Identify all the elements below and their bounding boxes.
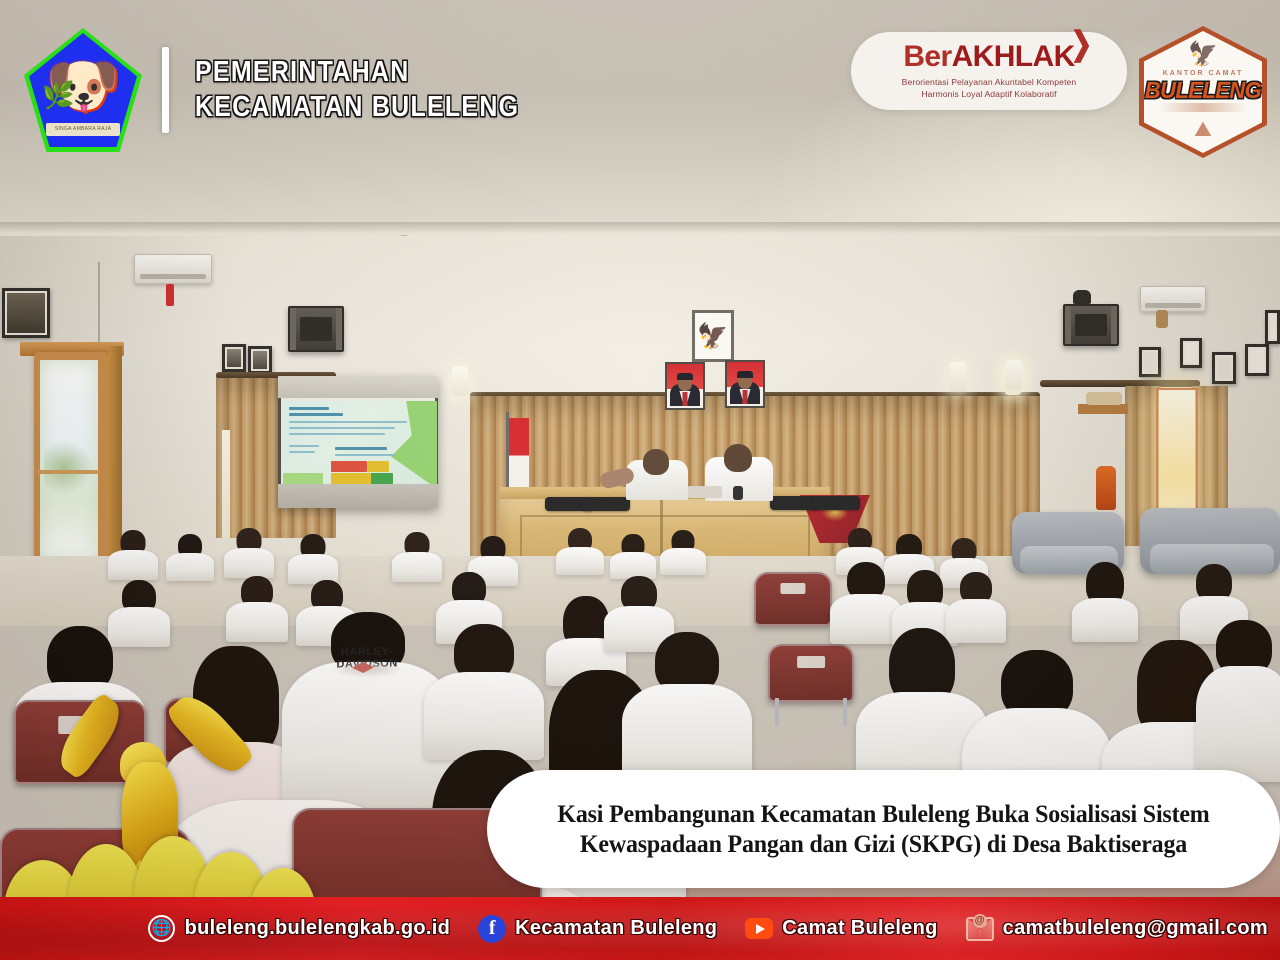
framed-certificate [1180,338,1202,368]
attendee [108,530,158,578]
crest-foliage-icon: 🌿 [42,80,74,111]
head-table-chair [770,496,818,510]
kantor-camat-buleleng-badge: 🦅 KANTOR CAMAT BULELENG ⛰ [1139,26,1267,158]
presentation-slide [283,401,437,489]
footer-youtube-label: Camat Buleleng [782,917,937,940]
header-title-line1: PEMERINTAHAN [195,55,519,90]
door-crossbar [38,470,100,474]
berakhlak-main: AKHLAK [952,40,1075,73]
head-table-chair [812,496,860,510]
header-title-line1-main: PEMERINTAH [195,56,371,88]
audience-chair [768,644,854,702]
footer-item-website[interactable]: 🌐 buleleng.bulelengkab.go.id [148,915,451,943]
garuda-wing-right [164,686,255,781]
header-divider [162,47,169,133]
screen-top-bar [278,376,438,398]
attendee [660,530,706,574]
footer-website-label: buleleng.bulelengkab.go.id [185,917,451,940]
framed-certificate [1139,347,1161,377]
wall-lamp [950,362,966,392]
footer-item-facebook[interactable]: f Kecamatan Buleleng [478,915,717,943]
attendee [1072,562,1138,638]
header-branding: 🐶 🌿 SINGA AMBARA RAJA PEMERINTAHAN KECAM… [24,28,572,152]
wall-speaker [1063,304,1119,346]
attendee [622,632,752,782]
framed-certificate [1245,344,1269,376]
attendee [166,534,214,580]
attendee [288,534,338,582]
wall-ornament [1156,310,1168,328]
speaker-head [724,444,752,472]
laptop [688,486,722,498]
framed-photo [222,344,246,372]
cctv-camera [1073,290,1091,304]
garuda-wing-left [51,691,129,780]
fire-extinguisher [1096,466,1116,510]
social-media-post-image: 🦅 [0,0,1280,960]
crest-motto: SINGA AMBARA RAJA [46,123,120,136]
eagle-icon: 🦅 [1188,43,1218,67]
header-title-line1-faded: AN [371,56,410,88]
email-icon: @ [966,915,994,943]
speaker-head [643,449,669,475]
badge-scroll [1159,103,1246,112]
berakhlak-subtitle: Berorientasi Pelayanan Akuntabel Kompete… [902,77,1077,100]
caption-container: Kasi Pembangunan Kecamatan Buleleng Buka… [487,770,1280,888]
president-portrait [665,362,705,410]
garuda-pancasila-icon: 🦅 [697,324,728,349]
audience-chair [754,572,832,626]
landscape-icon: ⛰ [1194,119,1212,140]
youtube-icon [745,915,773,943]
footer-email-label: camatbuleleng@gmail.com [1003,917,1268,940]
globe-icon: 🌐 [148,915,176,943]
ac-ribbon [166,284,174,306]
attendee [226,576,288,640]
outdoor-foliage [44,440,94,496]
berakhlak-logo: BerAKHLAK ❯ Berorientasi Pelayanan Akunt… [851,32,1127,110]
slide-red-block [331,461,367,472]
berakhlak-prefix: Ber [903,40,951,73]
wall-lamp [1006,360,1022,390]
vice-president-portrait [725,360,765,408]
attendee [392,532,442,580]
attendee [610,534,656,578]
chevron-right-icon: ❯ [1070,27,1091,60]
badge-top-text: KANTOR CAMAT [1163,70,1244,77]
air-conditioner [1140,286,1206,312]
air-conditioner [134,254,212,284]
framed-photo [248,346,272,374]
shelf-ornament [1086,392,1122,405]
wooden-shelf [1078,404,1128,414]
facebook-icon: f [478,915,506,943]
wall-lamp [452,366,468,396]
wall-speaker [288,306,344,352]
berakhlak-subtitle-line2: Harmonis Loyal Adaptif Kolaboratif [902,89,1077,101]
berakhlak-subtitle-line1: Berorientasi Pelayanan Akuntabel Kompete… [902,77,1077,89]
head-table-chair [582,497,630,511]
attendee [224,528,274,576]
indonesian-flag [509,418,529,496]
footer-item-youtube[interactable]: Camat Buleleng [745,915,937,943]
attendee [556,528,604,574]
framed-certificate [1265,310,1280,344]
footer-item-email[interactable]: @ camatbuleleng@gmail.com [966,915,1268,943]
framed-photo [2,288,50,338]
footer-contact-bar: 🌐 buleleng.bulelengkab.go.id f Kecamatan… [0,897,1280,960]
attendee [1196,620,1280,780]
header-title-block: PEMERINTAHAN KECAMATAN BULELENG [195,55,572,126]
buleleng-coat-of-arms-icon: 🐶 🌿 SINGA AMBARA RAJA [24,28,142,152]
slide-green-block [371,473,393,484]
screen-bottom-bar [278,484,438,508]
header-title-line2: KECAMATAN BULELENG [195,90,519,125]
framed-certificate [1212,352,1236,384]
footer-facebook-label: Kecamatan Buleleng [515,917,717,940]
microphone [733,486,743,500]
berakhlak-title: BerAKHLAK ❯ [903,42,1074,72]
badge-name: BULELENG [1145,79,1261,102]
right-curtain-rod [1040,380,1200,387]
caption-text: Kasi Pembangunan Kecamatan Buleleng Buka… [511,799,1256,859]
slide-yellow-block [367,461,389,472]
garuda-pancasila-frame: 🦅 [692,310,734,362]
